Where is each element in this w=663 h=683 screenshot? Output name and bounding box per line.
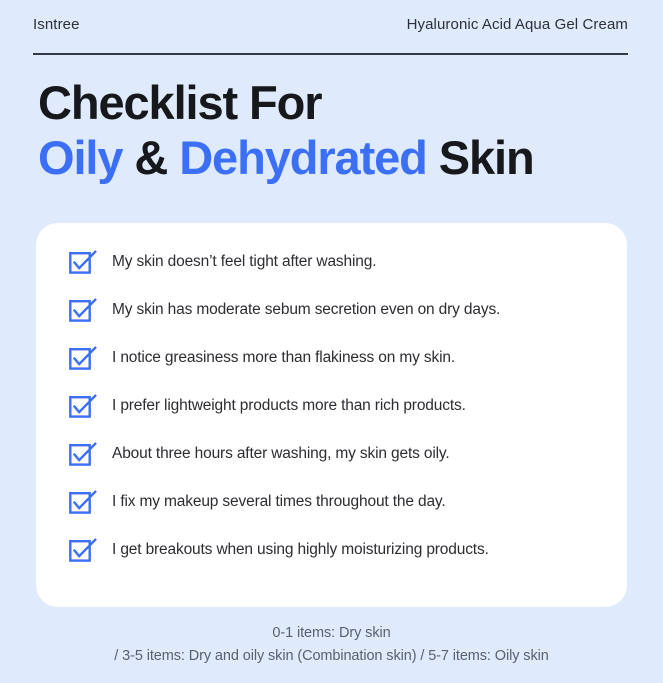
title-word-ampersand: & bbox=[134, 131, 167, 184]
title-word-skin: Skin bbox=[439, 131, 534, 184]
checklist-row[interactable]: About three hours after washing, my skin… bbox=[69, 443, 603, 466]
title-line-1: Checklist For bbox=[38, 76, 638, 131]
brand-name: Isntree bbox=[33, 16, 80, 33]
title-word-dehydrated: Dehydrated bbox=[179, 131, 427, 184]
checklist-row[interactable]: I prefer lightweight products more than … bbox=[69, 395, 603, 418]
footer-line-2: / 3-5 items: Dry and oily skin (Combinat… bbox=[0, 645, 663, 668]
page-title: Checklist For Oily & Dehydrated Skin bbox=[38, 76, 638, 185]
checklist-label: I prefer lightweight products more than … bbox=[112, 397, 466, 416]
checked-checkbox-icon[interactable] bbox=[69, 251, 97, 274]
checklist-label: My skin has moderate sebum secretion eve… bbox=[112, 301, 500, 320]
checklist-card: My skin doesn’t feel tight after washing… bbox=[36, 223, 627, 607]
checked-checkbox-icon[interactable] bbox=[69, 299, 97, 322]
checklist-label: I get breakouts when using highly moistu… bbox=[112, 541, 489, 560]
checked-checkbox-icon[interactable] bbox=[69, 443, 97, 466]
checked-checkbox-icon[interactable] bbox=[69, 395, 97, 418]
product-name: Hyaluronic Acid Aqua Gel Cream bbox=[407, 16, 628, 33]
checklist-row[interactable]: My skin doesn’t feel tight after washing… bbox=[69, 251, 603, 274]
footer-line-1: 0-1 items: Dry skin bbox=[0, 622, 663, 645]
checklist-row[interactable]: I fix my makeup several times throughout… bbox=[69, 491, 603, 514]
title-word-oily: Oily bbox=[38, 131, 122, 184]
page-header: Isntree Hyaluronic Acid Aqua Gel Cream bbox=[33, 16, 628, 55]
checklist-label: About three hours after washing, my skin… bbox=[112, 445, 450, 464]
checklist-label: My skin doesn’t feel tight after washing… bbox=[112, 253, 376, 272]
checklist-label: I notice greasiness more than flakiness … bbox=[112, 349, 455, 368]
checked-checkbox-icon[interactable] bbox=[69, 347, 97, 370]
checklist: My skin doesn’t feel tight after washing… bbox=[69, 251, 603, 562]
checklist-row[interactable]: I get breakouts when using highly moistu… bbox=[69, 539, 603, 562]
page-footer: 0-1 items: Dry skin / 3-5 items: Dry and… bbox=[0, 622, 663, 669]
title-line-2: Oily & Dehydrated Skin bbox=[38, 131, 638, 186]
checklist-row[interactable]: I notice greasiness more than flakiness … bbox=[69, 347, 603, 370]
checked-checkbox-icon[interactable] bbox=[69, 491, 97, 514]
checked-checkbox-icon[interactable] bbox=[69, 539, 97, 562]
checklist-row[interactable]: My skin has moderate sebum secretion eve… bbox=[69, 299, 603, 322]
checklist-label: I fix my makeup several times throughout… bbox=[112, 493, 446, 512]
